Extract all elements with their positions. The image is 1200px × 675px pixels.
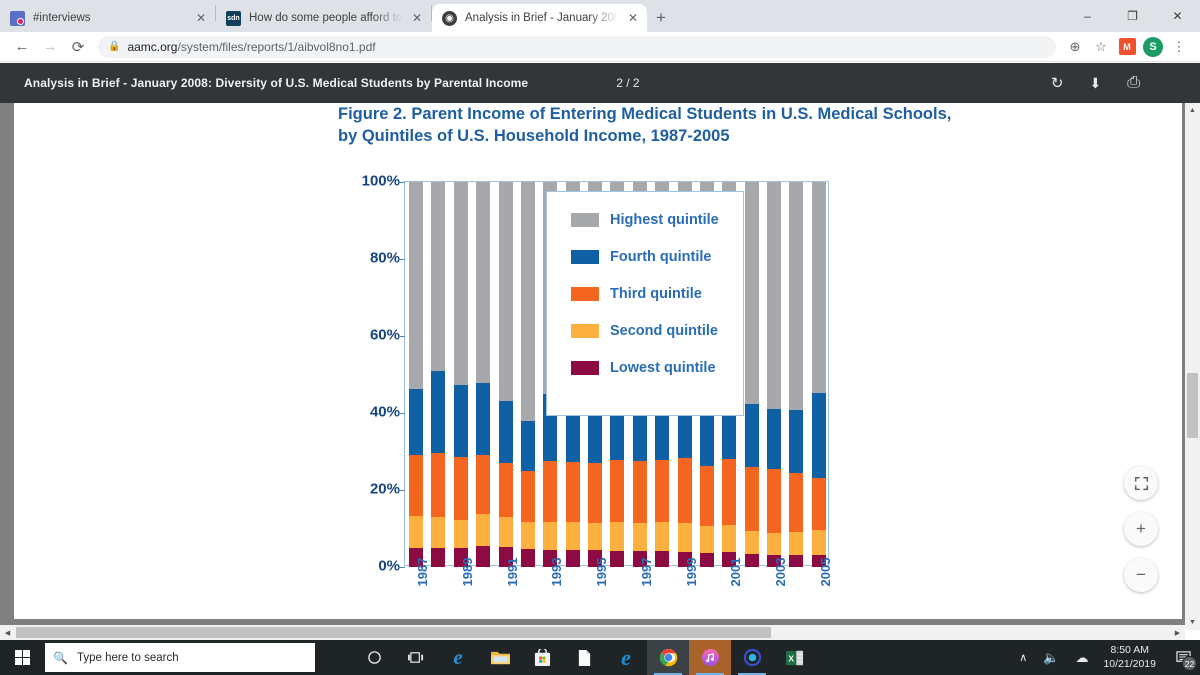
legend-item: Second quintile (571, 323, 743, 339)
maximize-button[interactable]: ❐ (1110, 0, 1155, 32)
scroll-down-button[interactable]: ▼ (1185, 615, 1200, 630)
legend-label: Third quintile (610, 286, 702, 302)
horizontal-scrollbar[interactable]: ◀ ▶ (0, 625, 1185, 640)
bar-segment (633, 523, 647, 551)
onedrive-icon[interactable]: ☁ (1066, 650, 1097, 666)
y-axis-tick-label: 100% (362, 173, 400, 190)
notifications-button[interactable]: 22 (1166, 640, 1200, 675)
bar-segment (588, 463, 602, 522)
x-axis-tick-label: 1995 (594, 558, 609, 587)
x-axis-slot: 1997 (632, 570, 646, 630)
y-axis-tick-label: 40% (370, 404, 400, 421)
cortana-icon[interactable] (353, 640, 395, 675)
x-axis-slot: 1999 (677, 570, 691, 630)
tab-interviews[interactable]: #interviews ✕ (0, 4, 215, 32)
y-axis-tick (398, 336, 405, 337)
x-axis-slot (699, 570, 713, 630)
bar-segment (745, 404, 759, 467)
bar-segment (521, 522, 535, 549)
zoom-in-button[interactable]: + (1124, 512, 1158, 546)
address-bar[interactable]: 🔒 aamc.org /system/files/reports/1/aibvo… (98, 36, 1056, 58)
bar-segment (431, 548, 445, 567)
bar-segment (789, 532, 803, 555)
bar-segment (566, 550, 580, 567)
tab-title: How do some people afford to g (249, 12, 403, 24)
bar-segment (409, 516, 423, 548)
bar-segment (521, 182, 535, 421)
tab-title: #interviews (33, 12, 187, 24)
figure-title-line1: Figure 2. Parent Income of Entering Medi… (338, 104, 1068, 126)
windows-taskbar: 🔍 Type here to search e (0, 640, 1200, 675)
y-axis-tick (398, 490, 405, 491)
tab-strip: #interviews ✕ sdn How do some people aff… (0, 0, 1200, 32)
bar-segment (521, 471, 535, 522)
windows-start-icon (15, 650, 30, 665)
legend-label: Lowest quintile (610, 360, 716, 376)
bar-segment (454, 520, 468, 548)
bar-2002 (745, 182, 759, 567)
figure-title-line2: by Quintiles of U.S. Household Income, 1… (338, 126, 1068, 148)
bar-1991 (499, 182, 513, 567)
volume-icon[interactable]: 🔈 (1036, 650, 1066, 666)
bar-segment (499, 517, 513, 547)
microsoft-store-icon[interactable] (521, 640, 563, 675)
excel-icon[interactable]: X (773, 640, 815, 675)
notepad-icon[interactable] (563, 640, 605, 675)
bar-segment (812, 478, 826, 530)
rotate-button[interactable]: ↻ (1051, 74, 1064, 92)
bar-segment (454, 182, 468, 385)
bar-1987 (409, 182, 423, 567)
bar-segment (678, 523, 692, 551)
bar-segment (700, 553, 714, 567)
x-axis-slot: 2005 (811, 570, 825, 630)
bar-segment (431, 517, 445, 548)
browser-toolbar: ← → ⟳ 🔒 aamc.org /system/files/reports/1… (0, 32, 1200, 62)
pdf-document-title: Analysis in Brief - January 2008: Divers… (24, 76, 528, 90)
slack-icon (10, 11, 25, 26)
app-icon[interactable] (731, 640, 773, 675)
task-view-icon[interactable] (395, 640, 437, 675)
bar-1988 (431, 182, 445, 567)
x-axis-slot (744, 570, 758, 630)
close-icon[interactable]: ✕ (625, 10, 641, 26)
x-axis-slot: 1987 (408, 570, 422, 630)
bar-segment (409, 455, 423, 517)
close-icon[interactable]: ✕ (193, 10, 209, 26)
x-axis-slot (609, 570, 623, 630)
bar-segment (454, 457, 468, 519)
bar-segment (812, 182, 826, 393)
new-tab-button[interactable]: + (647, 4, 675, 32)
browser-window: #interviews ✕ sdn How do some people aff… (0, 0, 1200, 675)
x-axis-slot: 2003 (766, 570, 780, 630)
taskbar-app-icons: e (353, 640, 815, 675)
bar-segment (499, 463, 513, 517)
bar-segment (521, 549, 535, 567)
bar-segment (454, 385, 468, 457)
bar-2003 (767, 182, 781, 567)
legend-swatch (571, 361, 599, 375)
tab-title: Analysis in Brief - January 2008: D (465, 12, 619, 24)
minimize-button[interactable]: – (1065, 0, 1110, 32)
system-tray: ∧ 🔈 ☁ 8:50 AM 10/21/2019 22 (1010, 640, 1200, 675)
x-axis-tick-label: 2003 (773, 558, 788, 587)
pdf-toolbar: Analysis in Brief - January 2008: Divers… (0, 63, 1200, 103)
legend-swatch (571, 250, 599, 264)
bar-segment (655, 460, 669, 522)
bar-segment (521, 421, 535, 471)
bar-segment (499, 401, 513, 463)
globe-icon: ◉ (442, 11, 457, 26)
x-axis-slot: 1993 (542, 570, 556, 630)
itunes-icon[interactable] (689, 640, 731, 675)
tab-analysis-in-brief[interactable]: ◉ Analysis in Brief - January 2008: D ✕ (432, 4, 647, 32)
bar-2005 (812, 182, 826, 567)
y-axis-labels: 0%20%40%60%80%100% (338, 170, 400, 566)
bar-segment (588, 523, 602, 551)
lock-icon: 🔒 (108, 41, 120, 52)
x-axis-tick-label: 1993 (549, 558, 564, 587)
x-axis-slot: 2001 (721, 570, 735, 630)
bar-segment (789, 182, 803, 410)
zoom-indicator-icon[interactable]: ⊕ (1062, 34, 1088, 60)
bar-segment (767, 533, 781, 555)
fit-to-page-icon (1134, 476, 1149, 491)
clock-time: 8:50 AM (1110, 644, 1149, 657)
bar-segment (700, 466, 714, 526)
y-axis-tick-label: 60% (370, 327, 400, 344)
x-axis-slot (565, 570, 579, 630)
back-button[interactable]: ← (8, 33, 36, 61)
x-axis-slot: 1991 (498, 570, 512, 630)
bar-segment (633, 461, 647, 523)
scroll-up-button[interactable]: ▲ (1185, 103, 1200, 118)
pdf-action-buttons: ↻ ⬇ ⎙ (1051, 74, 1140, 92)
file-explorer-icon[interactable] (479, 640, 521, 675)
y-axis-tick (398, 413, 405, 414)
x-axis-slot (430, 570, 444, 630)
pdf-page-indicator: 2 / 2 (616, 76, 639, 90)
bar-segment (678, 458, 692, 523)
bar-segment (499, 182, 513, 401)
x-axis-slot (475, 570, 489, 630)
chrome-icon[interactable] (647, 640, 689, 675)
bar-segment (722, 525, 736, 552)
bookmark-star-icon[interactable]: ☆ (1088, 34, 1114, 60)
x-axis-slot (520, 570, 534, 630)
bar-segment (476, 514, 490, 546)
edge-icon[interactable]: e (437, 640, 479, 675)
x-axis-tick-label: 2001 (728, 558, 743, 587)
pdf-zoom-controls: + − (1124, 466, 1158, 592)
x-axis-tick-label: 1989 (460, 558, 475, 587)
bar-segment (610, 522, 624, 551)
bar-segment (476, 546, 490, 567)
forward-button[interactable]: → (36, 33, 64, 61)
x-axis-tick-label: 2005 (818, 558, 833, 587)
url-host: aamc.org (127, 40, 177, 54)
bar-1990 (476, 182, 490, 567)
legend-label: Fourth quintile (610, 249, 711, 265)
x-axis-labels: 1987198919911993199519971999200120032005 (404, 570, 829, 630)
bar-segment (700, 526, 714, 553)
legend-label: Second quintile (610, 323, 718, 339)
bar-segment (655, 522, 669, 550)
url-path: /system/files/reports/1/aibvol8no1.pdf (177, 40, 375, 54)
legend-item: Lowest quintile (571, 360, 743, 376)
x-axis-slot (788, 570, 802, 630)
scroll-left-button[interactable]: ◀ (0, 625, 15, 640)
omnibox-actions: ⊕ ☆ M S ⋮ (1062, 34, 1192, 60)
bar-segment (543, 461, 557, 523)
fit-to-page-button[interactable] (1124, 466, 1158, 500)
close-icon[interactable]: ✕ (409, 10, 425, 26)
vertical-scrollbar[interactable]: ▲ ▼ (1185, 103, 1200, 630)
legend-item: Third quintile (571, 286, 743, 302)
legend-item: Highest quintile (571, 212, 743, 228)
bar-segment (812, 393, 826, 478)
taskbar-search[interactable]: 🔍 Type here to search (45, 643, 315, 672)
bar-segment (767, 182, 781, 409)
show-hidden-icons-button[interactable]: ∧ (1010, 651, 1036, 664)
x-axis-tick-label: 1987 (415, 558, 430, 587)
legend-swatch (571, 324, 599, 338)
bar-segment (543, 522, 557, 550)
vertical-scrollbar-thumb[interactable] (1187, 373, 1198, 438)
bar-segment (409, 389, 423, 454)
bar-segment (476, 455, 490, 514)
bar-segment (745, 467, 759, 531)
print-button[interactable]: ⎙ (1127, 74, 1140, 92)
legend-swatch (571, 287, 599, 301)
download-button[interactable]: ⬇ (1089, 74, 1101, 92)
x-axis-slot: 1989 (453, 570, 467, 630)
svg-text:X: X (788, 653, 794, 663)
search-icon: 🔍 (53, 651, 68, 665)
clock-date: 10/21/2019 (1103, 658, 1156, 671)
bar-2004 (789, 182, 803, 567)
x-axis-slot (654, 570, 668, 630)
figure-title: Figure 2. Parent Income of Entering Medi… (338, 104, 1068, 148)
search-input[interactable]: Type here to search (77, 652, 179, 664)
horizontal-scrollbar-thumb[interactable] (16, 627, 771, 638)
clock[interactable]: 8:50 AM 10/21/2019 (1103, 644, 1156, 671)
y-axis-tick-label: 20% (370, 481, 400, 498)
sdn-icon: sdn (226, 11, 241, 26)
chart-legend: Highest quintileFourth quintileThird qui… (546, 191, 744, 416)
bar-segment (767, 409, 781, 469)
window-controls: – ❐ ✕ (1065, 0, 1200, 32)
bar-segment (812, 530, 826, 555)
bar-segment (789, 555, 803, 567)
bar-segment (789, 410, 803, 472)
bar-segment (566, 462, 580, 522)
y-axis-tick (398, 567, 405, 568)
x-axis-slot: 1995 (587, 570, 601, 630)
y-axis-tick (398, 182, 405, 183)
legend-label: Highest quintile (610, 212, 719, 228)
bar-segment (409, 182, 423, 389)
pdf-viewport[interactable]: Figure 2. Parent Income of Entering Medi… (0, 103, 1200, 630)
x-axis-tick-label: 1991 (505, 558, 520, 587)
extension-icon[interactable]: M (1114, 34, 1140, 60)
bar-segment (610, 551, 624, 567)
bar-segment (767, 469, 781, 533)
bar-segment (431, 453, 445, 517)
pdf-page: Figure 2. Parent Income of Entering Medi… (14, 103, 1182, 619)
internet-explorer-icon[interactable]: e (605, 640, 647, 675)
tab-sdn-forum[interactable]: sdn How do some people afford to g ✕ (216, 4, 431, 32)
x-axis-tick-label: 1997 (639, 558, 654, 587)
bar-segment (431, 371, 445, 454)
bar-segment (566, 522, 580, 550)
profile-avatar[interactable]: S (1140, 34, 1166, 60)
bar-1989 (454, 182, 468, 567)
start-button[interactable] (0, 640, 45, 675)
bar-segment (745, 531, 759, 554)
legend-swatch (571, 213, 599, 227)
bar-segment (431, 182, 445, 371)
bar-segment (655, 551, 669, 567)
close-window-button[interactable]: ✕ (1155, 0, 1200, 32)
scroll-right-button[interactable]: ▶ (1170, 625, 1185, 640)
y-axis-tick-label: 0% (378, 558, 400, 575)
bar-segment (745, 182, 759, 404)
zoom-out-button[interactable]: − (1124, 558, 1158, 592)
legend-item: Fourth quintile (571, 249, 743, 265)
bar-segment (476, 383, 490, 455)
bar-segment (722, 459, 736, 525)
bar-segment (476, 182, 490, 383)
x-axis-tick-label: 1999 (684, 558, 699, 587)
y-axis-tick (398, 259, 405, 260)
bar-segment (789, 473, 803, 532)
bar-segment (610, 460, 624, 522)
bar-1992 (521, 182, 535, 567)
bar-segment (745, 554, 759, 567)
chrome-menu-icon[interactable]: ⋮ (1166, 34, 1192, 60)
notification-count-badge: 22 (1182, 656, 1197, 671)
reload-button[interactable]: ⟳ (64, 33, 92, 61)
y-axis-tick-label: 80% (370, 250, 400, 267)
